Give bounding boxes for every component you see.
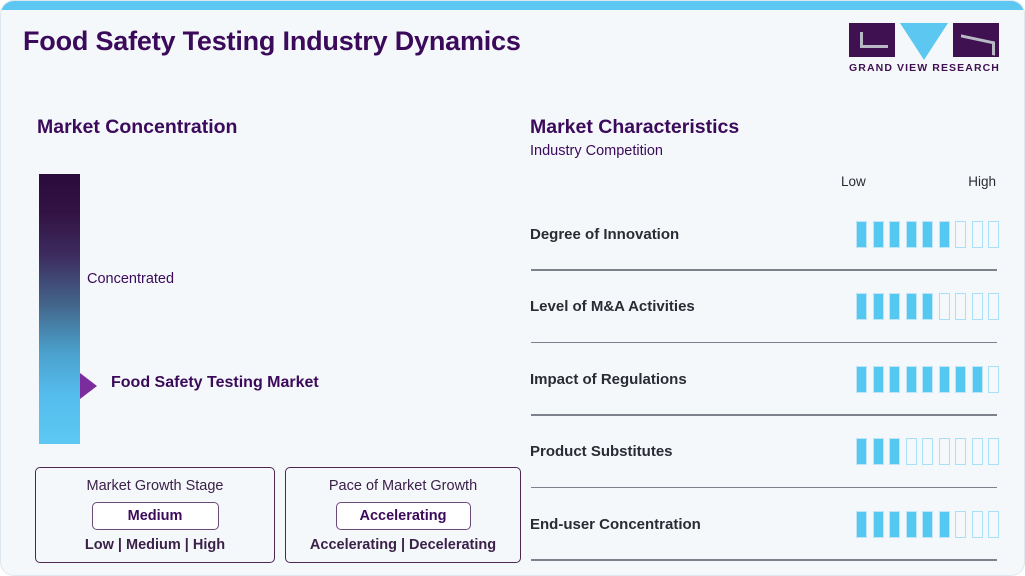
rating-tick-filled [922, 366, 933, 393]
rating-tick-empty [972, 438, 983, 465]
pace-of-market-growth-value: Accelerating [337, 508, 470, 524]
market-position-marker [80, 373, 97, 399]
characteristic-rating [856, 221, 999, 248]
characteristic-row-inner: Degree of Innovation [530, 198, 1007, 271]
characteristic-rating [856, 366, 999, 393]
rating-tick-empty [972, 221, 983, 248]
rating-tick-filled [873, 366, 884, 393]
rating-tick-empty [988, 366, 999, 393]
rating-tick-filled [873, 438, 884, 465]
market-growth-stage-value: Medium [93, 508, 218, 524]
logo-marks [849, 23, 999, 57]
rating-tick-empty [922, 438, 933, 465]
brand-logo: GRAND VIEW RESEARCH [849, 23, 999, 74]
logo-triangle-icon [900, 23, 948, 60]
market-growth-stage-options: Low | Medium | High [50, 537, 260, 553]
rating-tick-filled [889, 221, 900, 248]
rating-tick-empty [939, 438, 950, 465]
scale-top-label: Concentrated [87, 271, 174, 287]
market-concentration-title: Market Concentration [37, 116, 237, 139]
characteristic-rating [856, 438, 999, 465]
rating-tick-filled [955, 366, 966, 393]
header: Food Safety Testing Industry Dynamics GR… [1, 10, 1024, 88]
rating-tick-filled [906, 221, 917, 248]
pace-of-market-growth-title: Pace of Market Growth [300, 478, 506, 494]
rating-tick-filled [906, 366, 917, 393]
axis-low-label: Low [841, 174, 866, 189]
infographic-canvas: Food Safety Testing Industry Dynamics GR… [0, 0, 1025, 576]
rating-tick-empty [955, 511, 966, 538]
market-characteristics-panel: Market Characteristics Industry Competit… [521, 97, 1025, 576]
characteristic-row-inner: End-user Concentration [530, 488, 1007, 561]
characteristic-rows: Degree of InnovationLevel of M&A Activit… [530, 198, 1007, 561]
characteristic-label: End-user Concentration [530, 516, 701, 533]
characteristic-rating [856, 293, 999, 320]
rating-tick-filled [922, 221, 933, 248]
rating-tick-empty [955, 293, 966, 320]
rating-tick-empty [955, 438, 966, 465]
rating-tick-filled [856, 366, 867, 393]
rating-tick-empty [906, 438, 917, 465]
rating-tick-filled [856, 293, 867, 320]
market-growth-stage-title: Market Growth Stage [50, 478, 260, 494]
rating-tick-filled [922, 511, 933, 538]
pace-of-market-growth-value-box: Accelerating [336, 502, 471, 530]
pace-of-market-growth-card: Pace of Market Growth Accelerating Accel… [285, 467, 521, 563]
rating-tick-filled [889, 293, 900, 320]
characteristic-row: End-user Concentration [530, 488, 1007, 561]
characteristic-row: Impact of Regulations [530, 343, 1007, 416]
marker-arrow-icon [80, 373, 97, 399]
page-title: Food Safety Testing Industry Dynamics [23, 26, 521, 57]
rating-tick-empty [955, 221, 966, 248]
characteristic-row: Degree of Innovation [530, 198, 1007, 271]
rating-tick-empty [939, 293, 950, 320]
growth-indicator-cards: Market Growth Stage Medium Low | Medium … [35, 467, 521, 563]
rating-tick-filled [873, 293, 884, 320]
rating-tick-filled [972, 366, 983, 393]
logo-square-right-icon [953, 23, 999, 57]
rating-tick-empty [988, 511, 999, 538]
market-concentration-panel: Market Concentration Concentrated Fragme… [1, 97, 521, 576]
rating-tick-empty [988, 438, 999, 465]
rating-tick-filled [939, 366, 950, 393]
rating-tick-filled [856, 438, 867, 465]
market-position-label: Food Safety Testing Market [111, 374, 319, 392]
row-separator [531, 559, 997, 560]
concentration-gradient-scale [39, 174, 80, 444]
rating-axis-labels: Low High [841, 174, 996, 189]
rating-tick-filled [889, 438, 900, 465]
rating-tick-filled [856, 221, 867, 248]
characteristic-label: Level of M&A Activities [530, 298, 695, 315]
characteristic-row-inner: Product Substitutes [530, 416, 1007, 489]
rating-tick-filled [856, 511, 867, 538]
rating-tick-empty [972, 511, 983, 538]
rating-tick-filled [939, 511, 950, 538]
logo-square-left-icon [849, 23, 895, 57]
rating-tick-empty [988, 221, 999, 248]
axis-high-label: High [968, 174, 996, 189]
rating-tick-filled [906, 293, 917, 320]
characteristic-label: Degree of Innovation [530, 226, 679, 243]
rating-tick-empty [988, 293, 999, 320]
characteristic-label: Product Substitutes [530, 443, 673, 460]
top-accent-bar [1, 1, 1024, 10]
market-growth-stage-card: Market Growth Stage Medium Low | Medium … [35, 467, 275, 563]
rating-tick-filled [889, 366, 900, 393]
rating-tick-filled [873, 221, 884, 248]
rating-tick-filled [922, 293, 933, 320]
rating-tick-filled [889, 511, 900, 538]
rating-tick-filled [939, 221, 950, 248]
characteristic-row: Product Substitutes [530, 416, 1007, 489]
characteristic-row-inner: Level of M&A Activities [530, 271, 1007, 344]
market-characteristics-subtitle: Industry Competition [530, 143, 663, 159]
market-growth-stage-value-box: Medium [92, 502, 219, 530]
logo-wordmark: GRAND VIEW RESEARCH [849, 62, 999, 74]
characteristic-row: Level of M&A Activities [530, 271, 1007, 344]
characteristic-label: Impact of Regulations [530, 371, 687, 388]
characteristic-row-inner: Impact of Regulations [530, 343, 1007, 416]
rating-tick-filled [873, 511, 884, 538]
rating-tick-filled [906, 511, 917, 538]
market-characteristics-title: Market Characteristics [530, 116, 739, 139]
rating-tick-empty [972, 293, 983, 320]
pace-of-market-growth-options: Accelerating | Decelerating [300, 537, 506, 553]
characteristic-rating [856, 511, 999, 538]
